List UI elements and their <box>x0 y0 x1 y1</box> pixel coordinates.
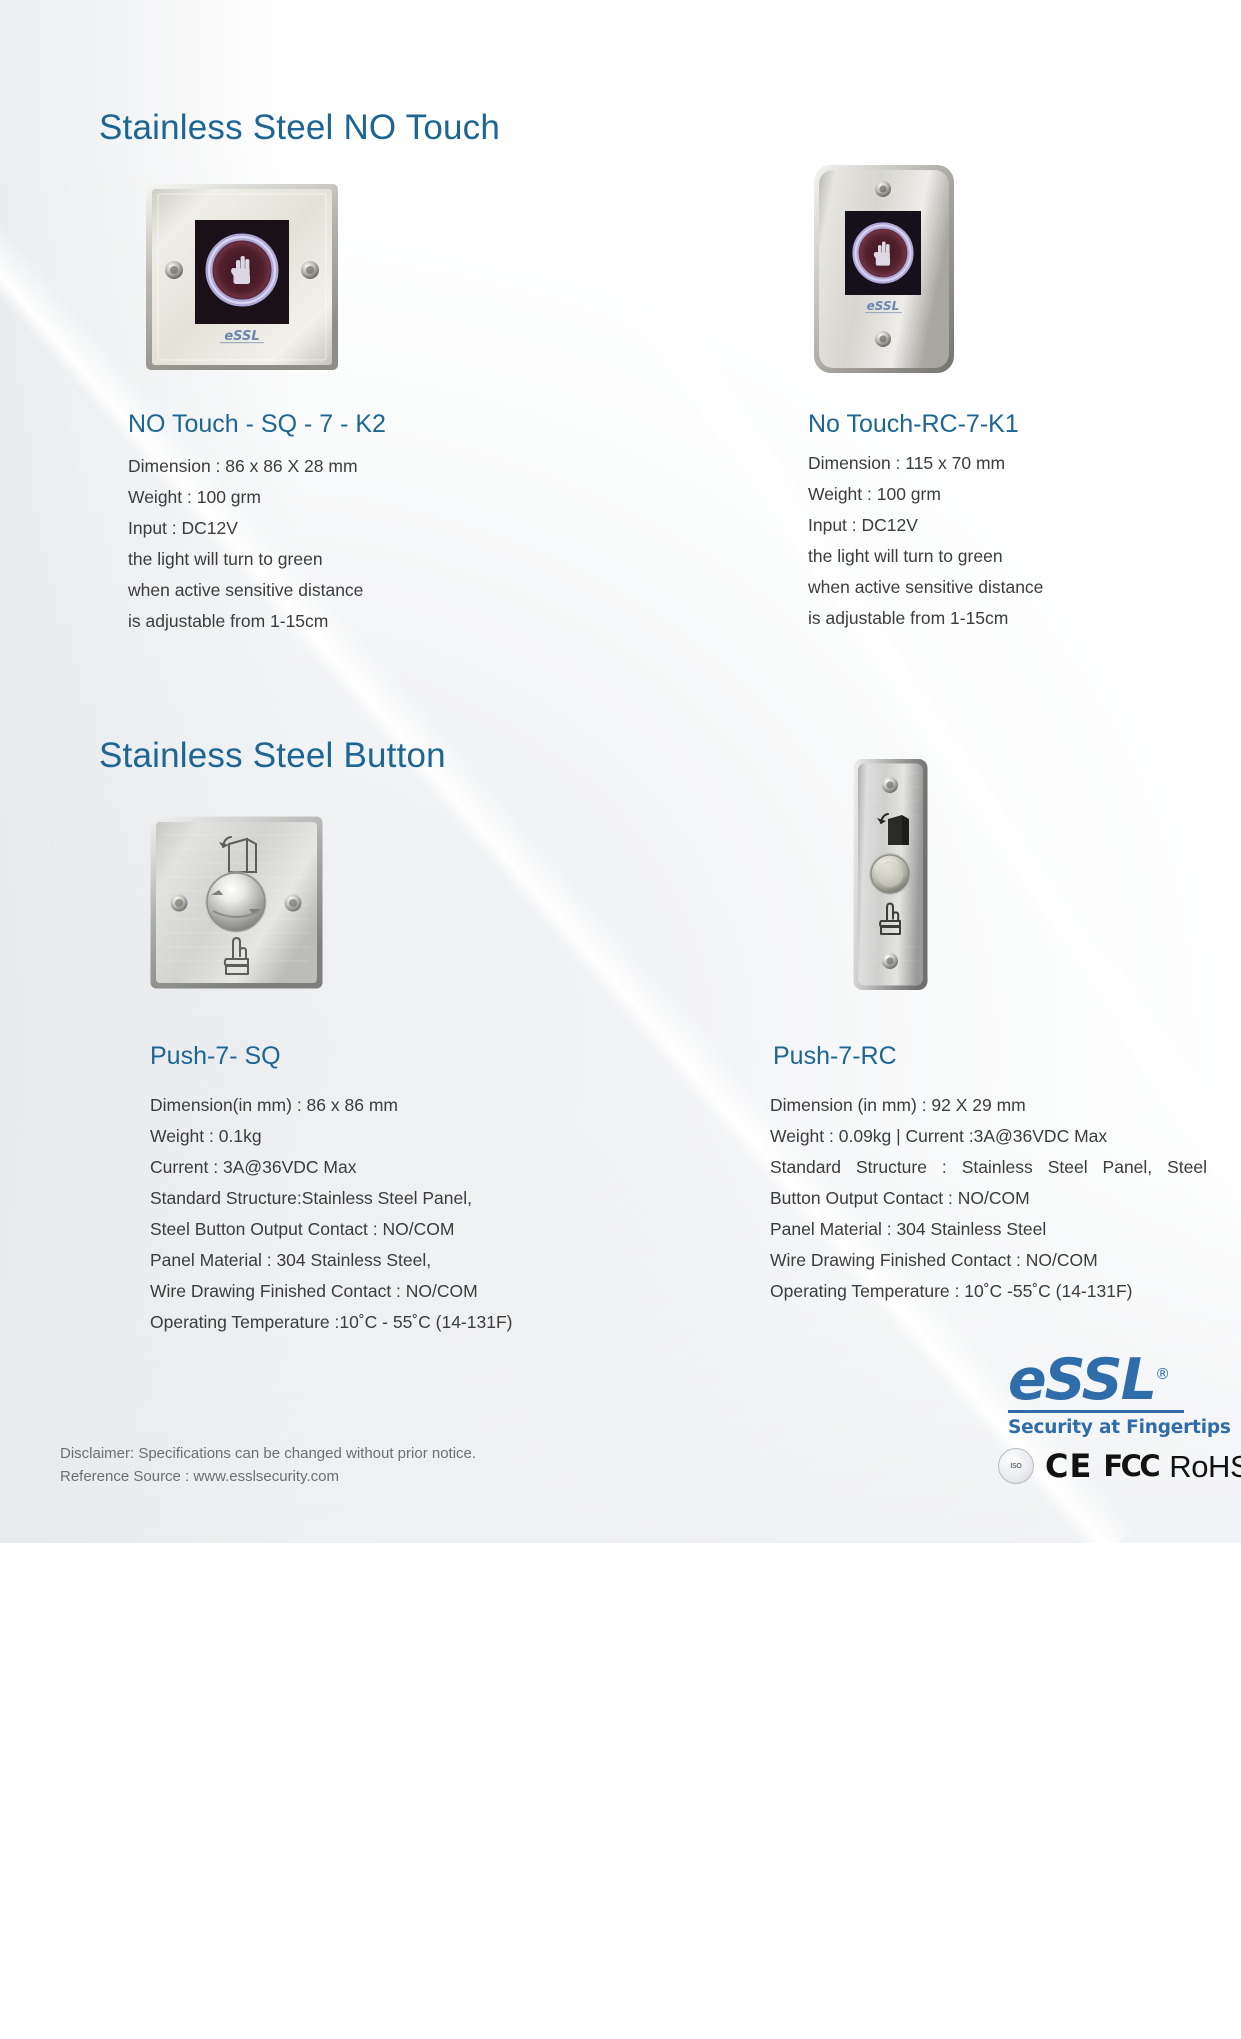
spec-line: Dimension : 115 x 70 mm <box>808 448 1043 479</box>
spec-line: Standard Structure : Stainless Steel Pan… <box>770 1152 1207 1183</box>
spec-line: Weight : 100 grm <box>808 479 1043 510</box>
spec-line: Panel Material : 304 Stainless Steel <box>770 1214 1207 1245</box>
spec-line: Dimension(in mm) : 86 x 86 mm <box>150 1090 512 1121</box>
section-heading-stainless-steel-no-touch: Stainless Steel NO Touch <box>99 108 500 148</box>
product-specs-no-touch-sq-7-k2: Dimension : 86 x 86 X 28 mm Weight : 100… <box>128 451 363 637</box>
spec-line: Weight : 0.09kg | Current :3A@36VDC Max <box>770 1121 1207 1152</box>
push-7-sq-product-photo <box>149 815 324 990</box>
logo-tagline: Security at Fingertips <box>1008 1417 1188 1438</box>
iso-certification-seal-icon: ISO <box>998 1448 1034 1484</box>
product-title-push-7-sq: Push-7- SQ <box>150 1042 281 1071</box>
spec-line: Weight : 100 grm <box>128 482 363 513</box>
spec-line: Input : DC12V <box>808 510 1043 541</box>
registered-trademark-icon: ® <box>1155 1365 1170 1383</box>
no-touch-rc-7-k1-product-photo: eSSL <box>811 163 959 375</box>
section-heading-stainless-steel-button: Stainless Steel Button <box>99 736 446 776</box>
no-touch-sq-7-k2-product-photo: eSSL <box>144 182 340 372</box>
product-specs-no-touch-rc-7-k1: Dimension : 115 x 70 mm Weight : 100 grm… <box>808 448 1043 634</box>
push-7-rc-product-photo <box>852 757 930 992</box>
spec-line: the light will turn to green <box>808 541 1043 572</box>
spec-line: Button Output Contact : NO/COM <box>770 1183 1207 1214</box>
svg-text:eSSL: eSSL <box>867 299 900 313</box>
spec-line: Wire Drawing Finished Contact : NO/COM <box>150 1276 512 1307</box>
product-specs-push-7-sq: Dimension(in mm) : 86 x 86 mm Weight : 0… <box>150 1090 512 1338</box>
spec-line: Current : 3A@36VDC Max <box>150 1152 512 1183</box>
spec-line: Steel Button Output Contact : NO/COM <box>150 1214 512 1245</box>
spec-line: Operating Temperature : 10˚C -55˚C (14-1… <box>770 1276 1207 1307</box>
product-specs-push-7-rc: Dimension (in mm) : 92 X 29 mm Weight : … <box>770 1090 1207 1307</box>
essl-wordmark: eSSL® <box>1008 1345 1170 1409</box>
spec-line: Dimension (in mm) : 92 X 29 mm <box>770 1090 1207 1121</box>
spec-line: the light will turn to green <box>128 544 363 575</box>
product-title-push-7-rc: Push-7-RC <box>773 1042 897 1071</box>
spec-line: Weight : 0.1kg <box>150 1121 512 1152</box>
essl-logo: eSSL® Security at Fingertips <box>1008 1345 1188 1438</box>
spec-line: is adjustable from 1-15cm <box>128 606 363 637</box>
product-title-no-touch-sq-7-k2: NO Touch - SQ - 7 - K2 <box>128 410 386 439</box>
disclaimer-line-1: Disclaimer: Specifications can be change… <box>60 1442 476 1465</box>
fcc-mark-icon: FCC <box>1103 1452 1158 1481</box>
spec-line: Standard Structure:Stainless Steel Panel… <box>150 1183 512 1214</box>
datasheet-page: Stainless Steel NO Touch <box>0 0 1241 1543</box>
spec-line: Dimension : 86 x 86 X 28 mm <box>128 451 363 482</box>
certification-marks: ISO CE FCC RoHS <box>998 1448 1241 1484</box>
spec-line: when active sensitive distance <box>808 572 1043 603</box>
spec-line: Wire Drawing Finished Contact : NO/COM <box>770 1245 1207 1276</box>
spec-line: Panel Material : 304 Stainless Steel, <box>150 1245 512 1276</box>
ce-mark-icon: CE <box>1045 1450 1092 1482</box>
spec-line: when active sensitive distance <box>128 575 363 606</box>
spec-line: is adjustable from 1-15cm <box>808 603 1043 634</box>
product-title-no-touch-rc-7-k1: No Touch-RC-7-K1 <box>808 410 1019 439</box>
disclaimer-line-2: Reference Source : www.esslsecurity.com <box>60 1465 476 1488</box>
spec-line: Input : DC12V <box>128 513 363 544</box>
disclaimer: Disclaimer: Specifications can be change… <box>60 1442 476 1488</box>
essl-wordmark-text: eSSL <box>1008 1347 1155 1413</box>
iso-seal-label: ISO <box>1010 1463 1021 1470</box>
rohs-mark-icon: RoHS <box>1169 1451 1241 1482</box>
spec-line: Operating Temperature :10˚C - 55˚C (14-1… <box>150 1307 512 1338</box>
svg-text:eSSL: eSSL <box>224 329 259 344</box>
